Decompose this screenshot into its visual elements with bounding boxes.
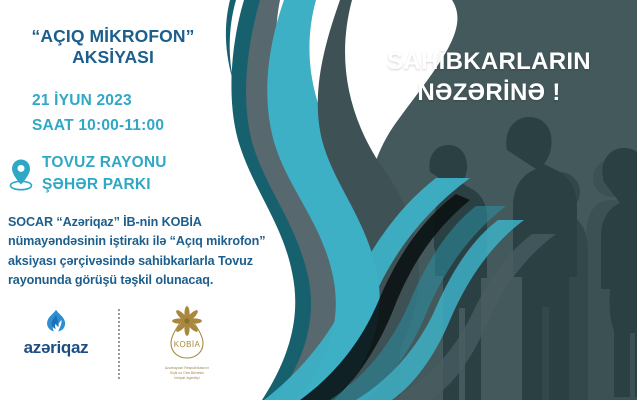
poster-title: “AÇIQ MİKROFON” AKSİYASI	[8, 26, 218, 69]
azeriqaz-wordmark: azəriqaz	[24, 339, 89, 356]
event-datetime: 21 İYUN 2023 SAAT 10:00-11:00	[32, 88, 262, 138]
kobia-logo: KOBİA Azərbaycan Respublikasının Kiçik v…	[136, 305, 238, 381]
kobia-subtitle-line-3: İnkişafı Agentliyi	[139, 376, 235, 381]
location-line-2: ŞƏHƏR PARKI	[42, 174, 167, 196]
left-content-column: “AÇIQ MİKROFON” AKSİYASI 21 İYUN 2023 SA…	[0, 0, 340, 400]
title-line-1: “AÇIQ MİKROFON”	[8, 26, 218, 47]
event-description: SOCAR “Azəriqaz” İB-nin KOBİA nümayəndəs…	[8, 213, 330, 290]
kobia-wordmark: KOBİA	[174, 340, 201, 349]
event-poster: “AÇIQ MİKROFON” AKSİYASI 21 İYUN 2023 SA…	[0, 0, 637, 400]
description-line-2: nümayəndəsinin iştirakı ilə “Açıq mikrof…	[8, 232, 330, 251]
location-line-1: TOVUZ RAYONU	[42, 152, 167, 174]
poster-headline: SAHİBKARLARIN NƏZƏRİNƏ !	[355, 46, 623, 108]
sponsor-logos: azəriqaz	[10, 305, 250, 395]
description-line-4: rayonunda görüşü təşkil olunacaq.	[8, 271, 330, 290]
event-time: SAAT 10:00-11:00	[32, 113, 262, 138]
title-line-2: AKSİYASI	[8, 47, 218, 68]
location-text: TOVUZ RAYONU ŞƏHƏR PARKI	[42, 152, 167, 195]
map-pin-icon	[8, 157, 34, 191]
event-date: 21 İYUN 2023	[32, 88, 262, 113]
description-line-3: aksiyası çərçivəsində sahibkarlarla Tovu…	[8, 252, 330, 271]
logo-divider	[118, 309, 120, 381]
headline-line-1: SAHİBKARLARIN	[355, 46, 623, 77]
azeriqaz-logo: azəriqaz	[10, 305, 102, 356]
kobia-flower-icon: KOBİA	[157, 305, 217, 365]
gas-flame-icon	[45, 309, 67, 335]
description-line-1: SOCAR “Azəriqaz” İB-nin KOBİA	[8, 213, 330, 232]
headline-line-2: NƏZƏRİNƏ !	[355, 77, 623, 108]
kobia-subtitle: Azərbaycan Respublikasının Kiçik və Orta…	[139, 366, 235, 381]
event-location: TOVUZ RAYONU ŞƏHƏR PARKI	[8, 152, 167, 195]
